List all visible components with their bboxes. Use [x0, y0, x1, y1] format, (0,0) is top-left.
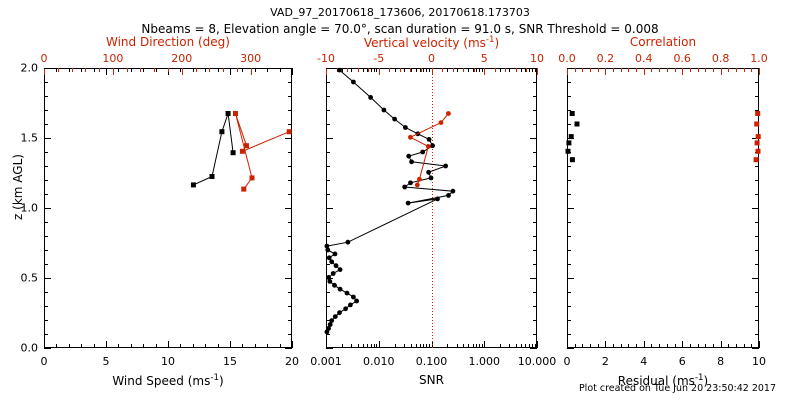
bottom-axis-title-3: Residual (ms-1) [567, 373, 759, 388]
top-tick-label: 1.0 [750, 52, 768, 65]
top-tick-label: 0.8 [712, 52, 730, 65]
y-tick-label: 1.5 [4, 132, 38, 145]
bottom-tick-label: 8 [717, 355, 724, 368]
bottom-axis-ticks [568, 68, 760, 348]
bottom-tick-label: 0 [564, 355, 571, 368]
top-tick-label: 0.4 [635, 52, 653, 65]
y-tick-label: 0.5 [4, 272, 38, 285]
bottom-tick-label: 10 [752, 355, 766, 368]
y-tick-label: 2.0 [4, 62, 38, 75]
top-tick-label: 0.0 [558, 52, 576, 65]
plot-figure: VAD_97_20170618_173606, 20170618.173703 … [0, 0, 800, 400]
data-series-residual [566, 111, 580, 162]
data-series-correlation [754, 111, 761, 162]
top-tick-label: 0.2 [597, 52, 615, 65]
top-axis-title-3: Correlation [567, 35, 759, 49]
top-axis-ticks [568, 68, 760, 75]
top-tick-label: 0.6 [673, 52, 691, 65]
y-axis-title: z (km AGL) [11, 147, 25, 227]
bottom-tick-label: 2 [602, 355, 609, 368]
y-tick-label: 0.0 [4, 342, 38, 355]
bottom-tick-label: 4 [640, 355, 647, 368]
bottom-tick-label: 6 [679, 355, 686, 368]
y-axis-ticks [567, 69, 759, 349]
